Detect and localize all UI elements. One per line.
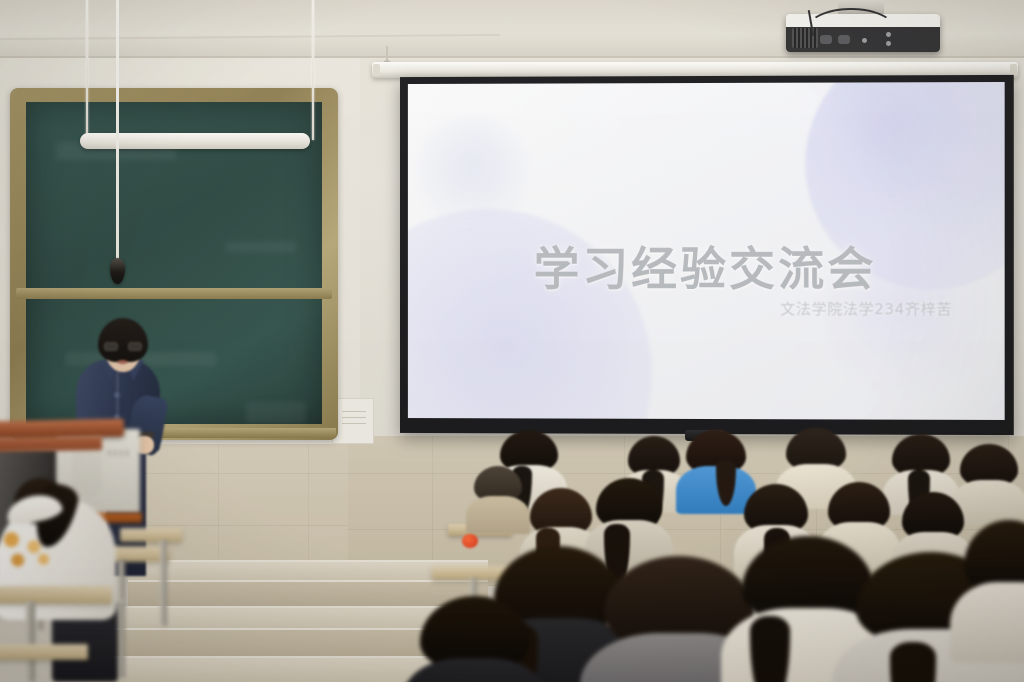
audience-member [686, 430, 746, 506]
torso [402, 658, 547, 682]
torso [466, 496, 529, 534]
microphone-cable [116, 0, 119, 262]
classroom-scene: 学习经验交流会 文法学院法学234齐梓苦 [0, 0, 1024, 682]
projected-slide: 学习经验交流会 文法学院法学234齐梓苦 [408, 82, 1005, 420]
desk-leg [26, 602, 35, 682]
audience-member [964, 520, 1024, 650]
ponytail [890, 642, 936, 682]
speaker-grill-icon [72, 446, 102, 498]
speaker-control-dots-icon [108, 450, 128, 456]
slide-decor-circle-top-left [418, 117, 527, 227]
desk-foreground-left [0, 586, 112, 604]
desk-foreground-left-2 [0, 644, 88, 660]
wall-switch-panel[interactable] [332, 398, 374, 444]
desk-leg [160, 540, 167, 626]
blackboard-surface [26, 102, 322, 424]
projector-port-1 [820, 35, 832, 44]
blackboard-center-rail [16, 288, 332, 299]
slide-title: 学习经验交流会 [408, 233, 1005, 299]
desk-left-mid [120, 528, 182, 542]
desk-leg [118, 560, 125, 678]
projector-led-3-icon [886, 41, 891, 46]
lectern-top-edge [0, 436, 102, 452]
blackboard-roller-blind[interactable] [80, 133, 310, 149]
presenter-button-1 [114, 392, 120, 398]
audience-member [420, 596, 530, 682]
presenter-glasses-icon [104, 342, 142, 351]
slide-subtitle: 文法学院法学234齐梓苦 [780, 298, 952, 319]
projection-screen[interactable]: 学习经验交流会 文法学院法学234齐梓苦 [400, 75, 1014, 435]
hanging-wire-right [312, 0, 314, 140]
red-object-on-desk [462, 534, 478, 548]
audience-member [474, 466, 522, 528]
projector-led-1-icon [862, 38, 867, 43]
audience-member [960, 444, 1018, 518]
projector-port-2 [838, 35, 850, 44]
ponytail [750, 616, 790, 682]
projector-led-2-icon [886, 32, 891, 37]
hanging-wire-left [86, 0, 88, 140]
presenter-mouth [117, 360, 128, 364]
